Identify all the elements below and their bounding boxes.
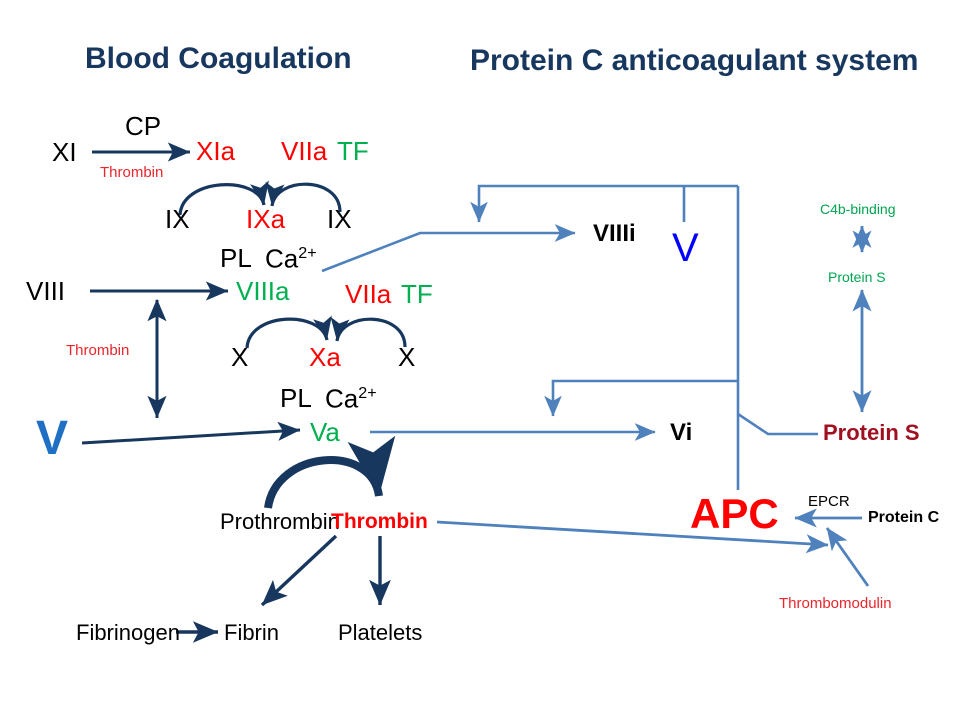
- node-viiia: VIIIa: [236, 278, 289, 304]
- label-pl-1: PL: [220, 245, 252, 271]
- node-protein-c: Protein C: [868, 510, 939, 526]
- page-title-left: Blood Coagulation: [85, 44, 352, 74]
- label-cp: CP: [125, 113, 161, 139]
- arrow-v-to-va: [82, 430, 300, 443]
- node-x-right: X: [398, 344, 415, 370]
- arrow-viiia-to-viiii: [322, 233, 575, 271]
- arc-prothrombin-to-thrombin: [268, 460, 379, 508]
- node-viia-2: VIIa: [345, 281, 391, 307]
- node-v-blue: V: [672, 228, 699, 268]
- apc-branch-to-viiii: [479, 186, 738, 222]
- node-apc: APC: [690, 493, 779, 535]
- label-ca-1-text: Ca: [265, 244, 298, 274]
- node-c4b-binding: C4b-binding: [820, 202, 896, 216]
- node-tf-2: TF: [401, 281, 433, 307]
- page-title-right: Protein C anticoagulant system: [470, 46, 918, 76]
- label-ca-2-text: Ca: [325, 384, 358, 414]
- node-thrombin: Thrombin: [331, 511, 428, 532]
- node-v-big: V: [36, 415, 68, 463]
- label-ca-1-charge: 2+: [298, 244, 316, 262]
- node-x-left: X: [231, 344, 248, 370]
- node-protein-s-green: Protein S: [828, 270, 886, 284]
- node-ix-left: IX: [165, 206, 190, 232]
- node-ix-right: IX: [327, 206, 352, 232]
- label-ca-2: Ca2+: [325, 385, 377, 412]
- node-xa: Xa: [309, 344, 341, 370]
- node-viiii: VIIIi: [593, 222, 636, 246]
- label-ca-1: Ca2+: [265, 245, 317, 272]
- label-thrombin-viii: Thrombin: [66, 343, 129, 358]
- node-va: Va: [310, 419, 340, 445]
- node-protein-s-red: Protein S: [823, 422, 920, 444]
- node-tf-1: TF: [337, 138, 369, 164]
- node-viii: VIII: [26, 278, 65, 304]
- node-ixa: IXa: [246, 206, 285, 232]
- node-viia-1: VIIa: [281, 138, 327, 164]
- node-xia: XIa: [196, 138, 235, 164]
- arc-x-to-xa-right: [337, 319, 405, 347]
- diagram-canvas: Blood Coagulation Protein C anticoagulan…: [0, 0, 960, 720]
- arrow-thrombomodulin-to-apc: [827, 528, 868, 586]
- node-xi: XI: [52, 139, 77, 165]
- node-fibrin: Fibrin: [224, 622, 279, 644]
- label-epcr: EPCR: [808, 494, 850, 509]
- label-thrombin-cp: Thrombin: [100, 165, 163, 180]
- apc-branch-to-protein-s: [738, 414, 818, 434]
- connector-layer: [0, 0, 960, 720]
- label-ca-2-charge: 2+: [358, 384, 376, 402]
- label-pl-2: PL: [280, 385, 312, 411]
- node-fibrinogen: Fibrinogen: [76, 622, 180, 644]
- node-prothrombin: Prothrombin: [220, 511, 340, 533]
- apc-branch-to-vi: [553, 381, 738, 416]
- node-thrombomodulin: Thrombomodulin: [779, 596, 892, 611]
- arrow-thrombin-to-fibrin: [262, 536, 336, 605]
- node-platelets: Platelets: [338, 622, 422, 644]
- node-vi: Vi: [670, 421, 692, 445]
